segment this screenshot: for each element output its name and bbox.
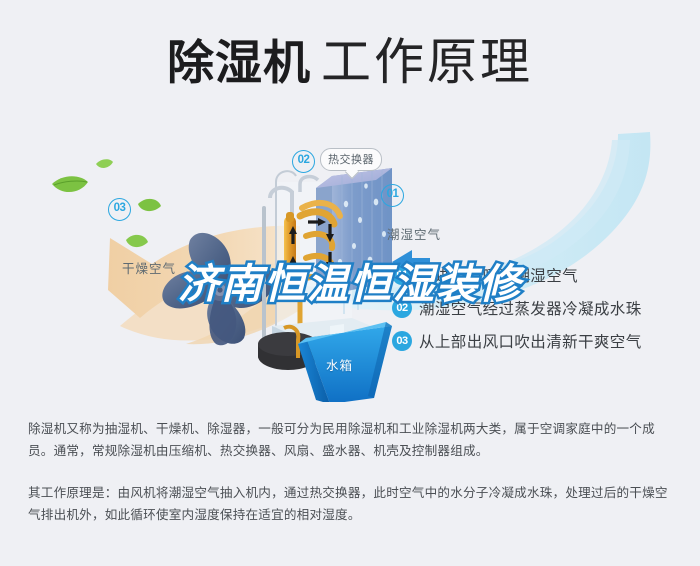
diagram-badge-02: 02 <box>292 150 315 173</box>
page-title: 除湿机工作原理 <box>0 22 700 94</box>
watermark-text: 济南恒温恒湿装修 <box>0 262 700 306</box>
page-title-part1: 除湿机 <box>167 36 311 91</box>
body-paragraph-1: 除湿机又称为抽湿机、干燥机、除湿器，一般可分为民用除湿机和工业除湿机两大类，属于… <box>28 418 678 462</box>
heat-exchanger-callout: 热交换器 <box>320 148 382 171</box>
step-badge-03: 03 <box>392 331 412 351</box>
humid-air-label: 潮湿空气 <box>387 224 441 243</box>
watermark: 济南恒温恒湿装修 济南恒温恒湿装修 <box>0 262 700 306</box>
leaf-icon-group <box>52 159 161 247</box>
page-title-part2: 工作原理 <box>321 33 533 91</box>
step-item: 03 从上部出风口吹出清新干爽空气 <box>392 324 692 357</box>
diagram-badge-03: 03 <box>108 198 131 221</box>
step-text-03: 从上部出风口吹出清新干爽空气 <box>419 330 642 352</box>
diagram-badge-01: 01 <box>381 184 404 207</box>
water-tank-label: 水箱 <box>326 355 353 374</box>
diagram-stage: 03 02 01 热交换器 干燥空气 潮湿空气 水箱 <box>0 112 700 402</box>
body-paragraph-2: 其工作原理是：由风机将潮湿空气抽入机内，通过热交换器，此时空气中的水分子冷凝成水… <box>28 482 678 526</box>
dehumidifier-infographic: 除湿机工作原理 <box>0 0 700 566</box>
